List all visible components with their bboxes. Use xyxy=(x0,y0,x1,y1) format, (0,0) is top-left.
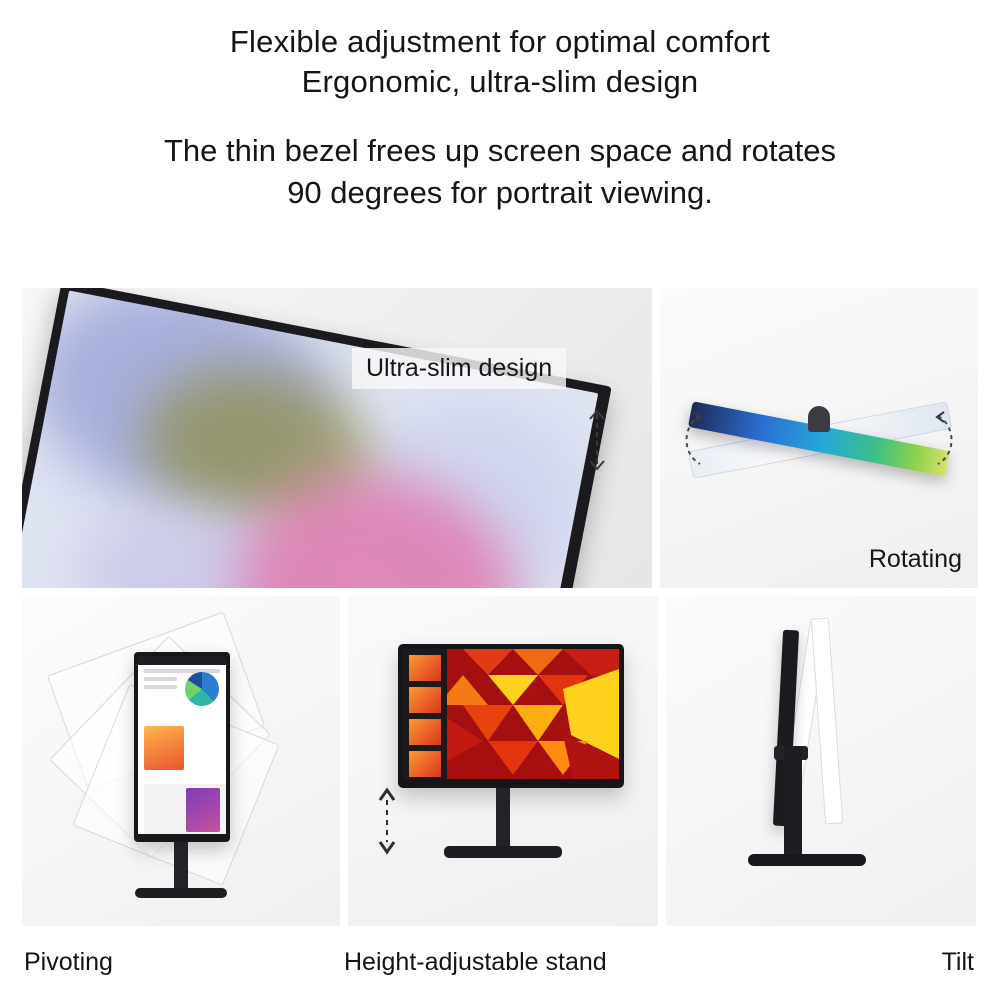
monitor-panel-angled xyxy=(22,288,612,588)
tile-tilt xyxy=(666,596,976,926)
caption-ultra-slim: Ultra-slim design xyxy=(352,348,566,389)
stand-base xyxy=(135,888,227,898)
monitor-screen-ui xyxy=(138,656,226,834)
gallery-captions: Pivoting Height-adjustable stand Tilt xyxy=(22,948,978,988)
monitor-screen-pattern xyxy=(403,649,619,779)
screen-thumbnail xyxy=(409,719,441,745)
caption-tilt: Tilt xyxy=(942,948,974,977)
stand-neck xyxy=(174,842,188,890)
screen-text-line xyxy=(144,677,177,681)
headings-block: Flexible adjustment for optimal comfort … xyxy=(0,0,1000,214)
screen-card-purple xyxy=(186,788,220,832)
stand-neck xyxy=(496,788,510,850)
subheading-line-1: The thin bezel frees up screen space and… xyxy=(0,130,1000,172)
caption-pivoting: Pivoting xyxy=(24,948,113,977)
up-down-arrow-icon xyxy=(374,786,400,856)
tile-height-adjustable xyxy=(348,596,658,926)
monitor-landscape xyxy=(398,644,624,788)
gallery-row-top: Ultra-slim design Rotating xyxy=(22,288,978,588)
screen-pie-chart xyxy=(185,672,219,706)
rotate-right-arc-icon xyxy=(930,410,964,470)
tilt-ghost-panel xyxy=(811,618,843,825)
screen-text-line xyxy=(144,685,177,689)
screen-thumbnail xyxy=(409,655,441,681)
screen-thumbnail xyxy=(409,687,441,713)
screen-sidebar xyxy=(403,649,447,779)
screen-top-bar xyxy=(138,656,226,665)
monitor-portrait xyxy=(134,652,230,842)
monitor-stand-hub xyxy=(808,406,830,432)
rotate-left-arc-icon xyxy=(674,410,708,470)
stand-base xyxy=(444,846,562,858)
subheading-line-2: 90 degrees for portrait viewing. xyxy=(0,172,1000,214)
caption-height-adjustable: Height-adjustable stand xyxy=(344,948,607,977)
screen-card-orange xyxy=(144,726,184,770)
tile-pivoting: Pivoting xyxy=(22,596,340,926)
heading-line-2: Ergonomic, ultra-slim design xyxy=(0,62,1000,102)
feature-gallery: Ultra-slim design Rotating xyxy=(22,288,978,926)
heading-line-1: Flexible adjustment for optimal comfort xyxy=(0,22,1000,62)
stand-column xyxy=(784,746,802,856)
thickness-measure-arrow-icon xyxy=(584,410,610,470)
monitor-screen-gradient xyxy=(22,291,598,588)
caption-rotating: Rotating xyxy=(869,545,962,574)
stand-base xyxy=(748,854,866,866)
gallery-row-bottom: Pivoting xyxy=(22,596,978,926)
tile-ultra-slim: Ultra-slim design xyxy=(22,288,652,588)
tile-rotating: Rotating xyxy=(660,288,978,588)
screen-thumbnail xyxy=(409,751,441,777)
